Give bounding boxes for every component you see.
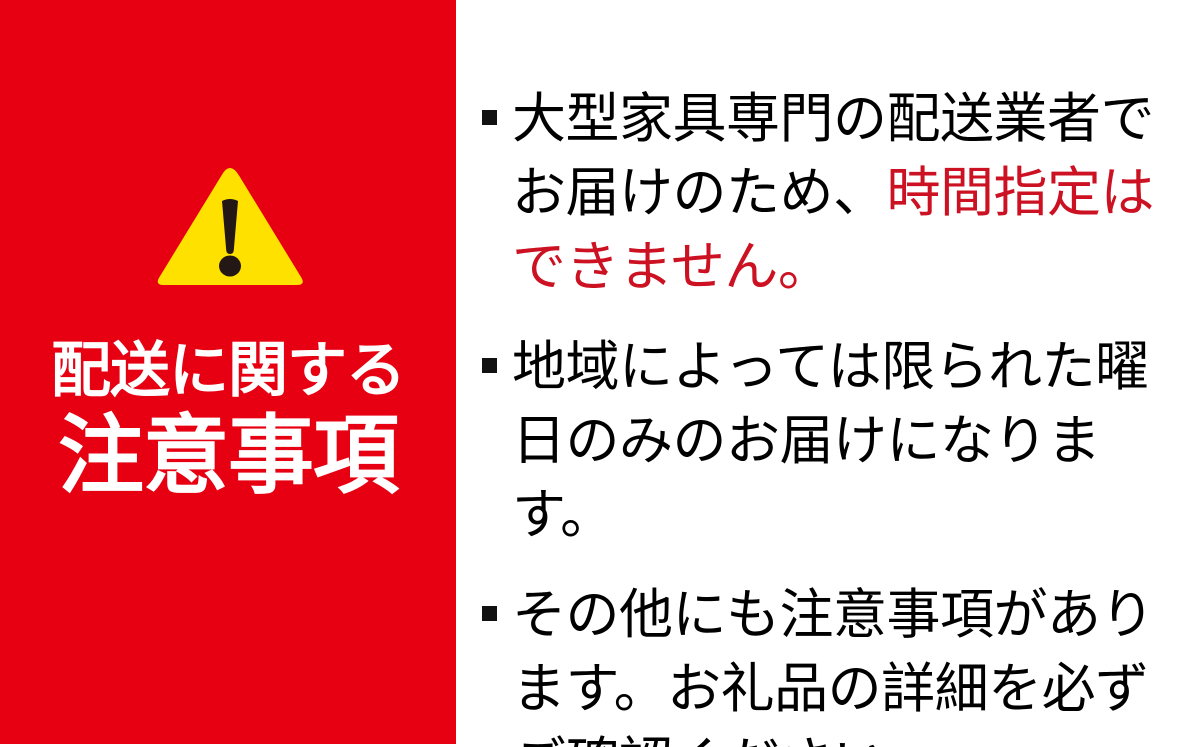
notes-list: 大型家具専門の配送業者でお届けのため、時間指定はできません。 地域によっては限ら…: [478, 82, 1178, 747]
list-item: 大型家具専門の配送業者でお届けのため、時間指定はできません。: [478, 82, 1178, 304]
note-plain-text: 地域によっては限られた曜日のみのお届けになります。: [512, 337, 1149, 545]
note-text-check-details: その他にも注意事項があります。お礼品の詳細を必ずご確認ください。: [512, 578, 1178, 747]
panel-heading: 配送に関する 注意事項: [0, 334, 456, 504]
note-text-limited-days: 地域によっては限られた曜日のみのお届けになります。: [512, 330, 1178, 552]
notice-banner: 配送に関する 注意事項 大型家具専門の配送業者でお届けのため、時間指定はできませ…: [0, 0, 1201, 747]
red-heading-panel: 配送に関する 注意事項: [0, 0, 456, 744]
heading-line-2: 注意事項: [0, 408, 456, 504]
note-plain-text: その他にも注意事項があります。お礼品の詳細を必ずご確認ください。: [512, 585, 1154, 747]
list-item: その他にも注意事項があります。お礼品の詳細を必ずご確認ください。: [478, 578, 1178, 747]
note-text-time-designation: 大型家具専門の配送業者でお届けのため、時間指定はできません。: [512, 82, 1178, 304]
bullet-square-icon: [482, 358, 497, 373]
heading-line-1: 配送に関する: [0, 334, 456, 408]
warning-triangle-icon: [155, 168, 305, 292]
list-item: 地域によっては限られた曜日のみのお届けになります。: [478, 330, 1178, 552]
bullet-square-icon: [482, 110, 497, 125]
bullet-square-icon: [482, 606, 497, 621]
